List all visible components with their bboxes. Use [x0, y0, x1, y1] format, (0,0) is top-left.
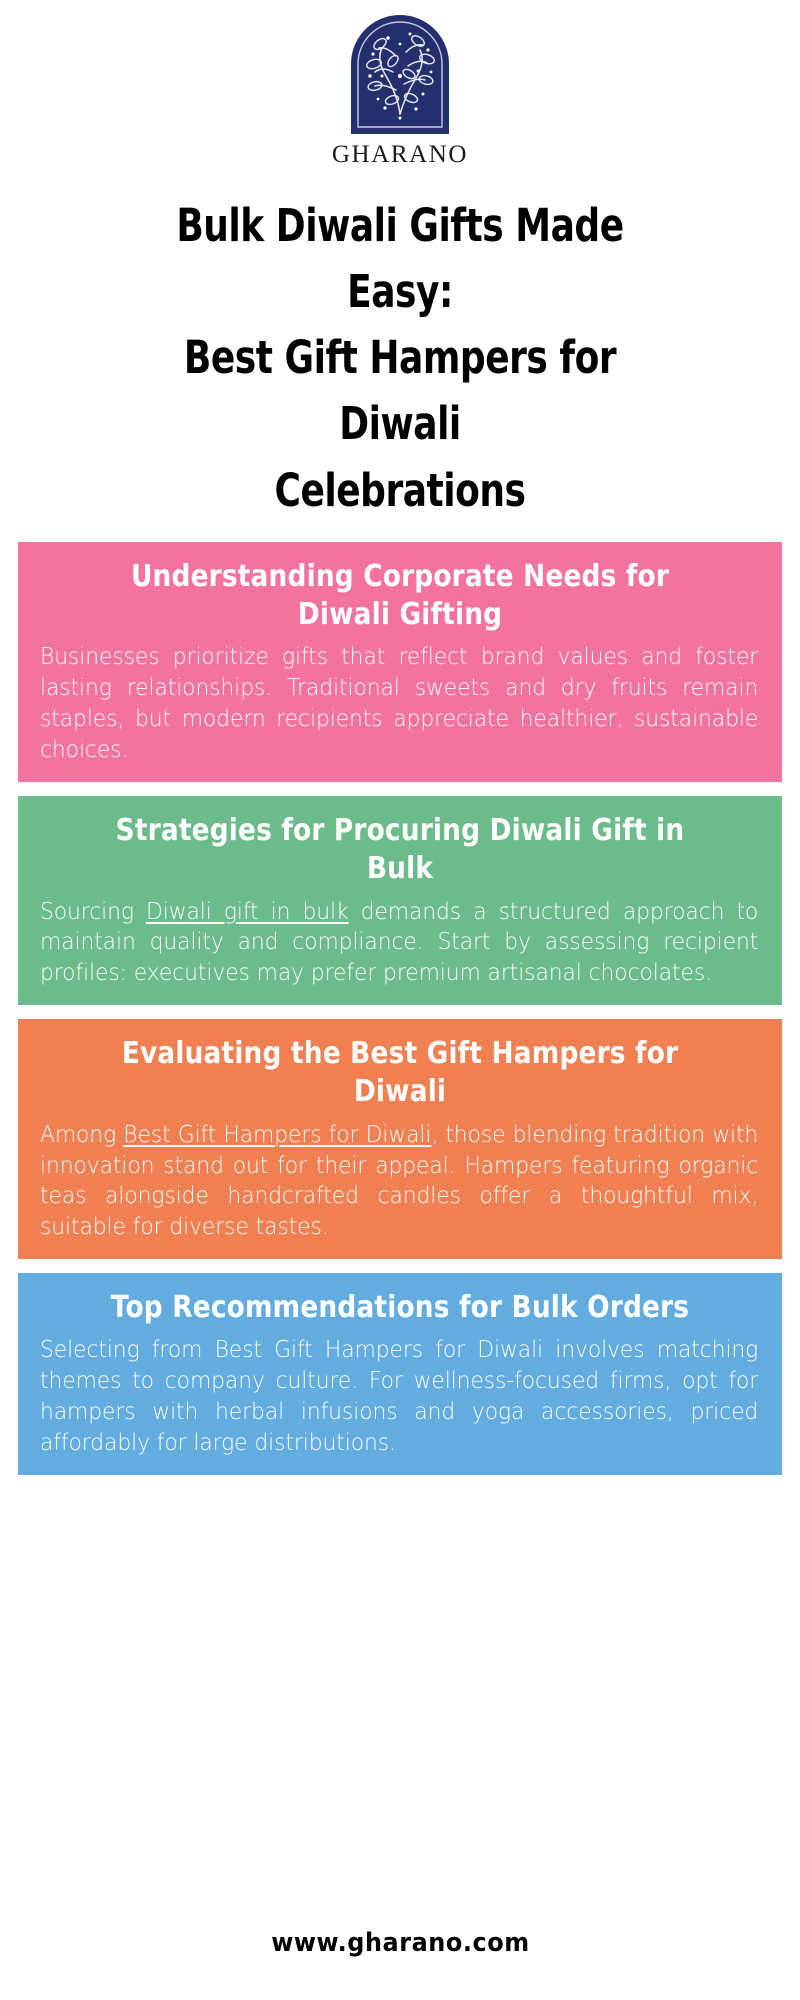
card-body: Businesses prioritize gifts that reflect… — [40, 642, 758, 765]
arch-botanical-logo-icon — [348, 14, 452, 136]
infographic-poster: GHARANO Bulk Diwali Gifts Made Easy: Bes… — [0, 0, 800, 2000]
card-evaluating-best-hampers: Evaluating the Best Gift Hampers for Diw… — [18, 1019, 782, 1259]
card-strategies-for-procuring: Strategies for Procuring Diwali Gift in … — [18, 796, 782, 1005]
card-list: Understanding Corporate Needs for Diwali… — [0, 542, 800, 1475]
website-url[interactable]: www.gharano.com — [271, 1928, 529, 1958]
card-body: Selecting from Best Gift Hampers for Diw… — [40, 1335, 758, 1458]
page-title: Bulk Diwali Gifts Made Easy: Best Gift H… — [120, 193, 680, 524]
card-heading: Top Recommendations for Bulk Orders — [83, 1289, 717, 1327]
card-body: Sourcing Diwali gift in bulk demands a s… — [40, 897, 758, 989]
title-line-1: Bulk Diwali Gifts Made Easy: — [176, 199, 623, 318]
inline-link[interactable]: Best Gift Hampers for Diwali — [123, 1122, 431, 1148]
body-text: Businesses prioritize gifts that reflect… — [40, 644, 758, 762]
card-body: Among Best Gift Hampers for Diwali, thos… — [40, 1120, 758, 1243]
brand-logo-block: GHARANO — [332, 14, 468, 167]
body-text: Selecting from Best Gift Hampers for Diw… — [40, 1337, 758, 1455]
inline-link[interactable]: Diwali gift in bulk — [146, 899, 349, 925]
card-heading: Evaluating the Best Gift Hampers for Diw… — [83, 1035, 717, 1112]
card-top-recommendations-bulk-orders: Top Recommendations for Bulk Orders Sele… — [18, 1273, 782, 1475]
brand-wordmark: GHARANO — [332, 142, 468, 167]
title-line-2: Best Gift Hampers for Diwali — [184, 331, 616, 450]
footer: www.gharano.com — [0, 1928, 800, 1958]
card-understanding-corporate-needs: Understanding Corporate Needs for Diwali… — [18, 542, 782, 782]
title-line-3: Celebrations — [275, 464, 526, 517]
body-text: Sourcing — [40, 899, 146, 925]
card-heading: Strategies for Procuring Diwali Gift in … — [83, 812, 717, 889]
card-heading: Understanding Corporate Needs for Diwali… — [83, 558, 717, 635]
body-text: Among — [40, 1122, 123, 1148]
